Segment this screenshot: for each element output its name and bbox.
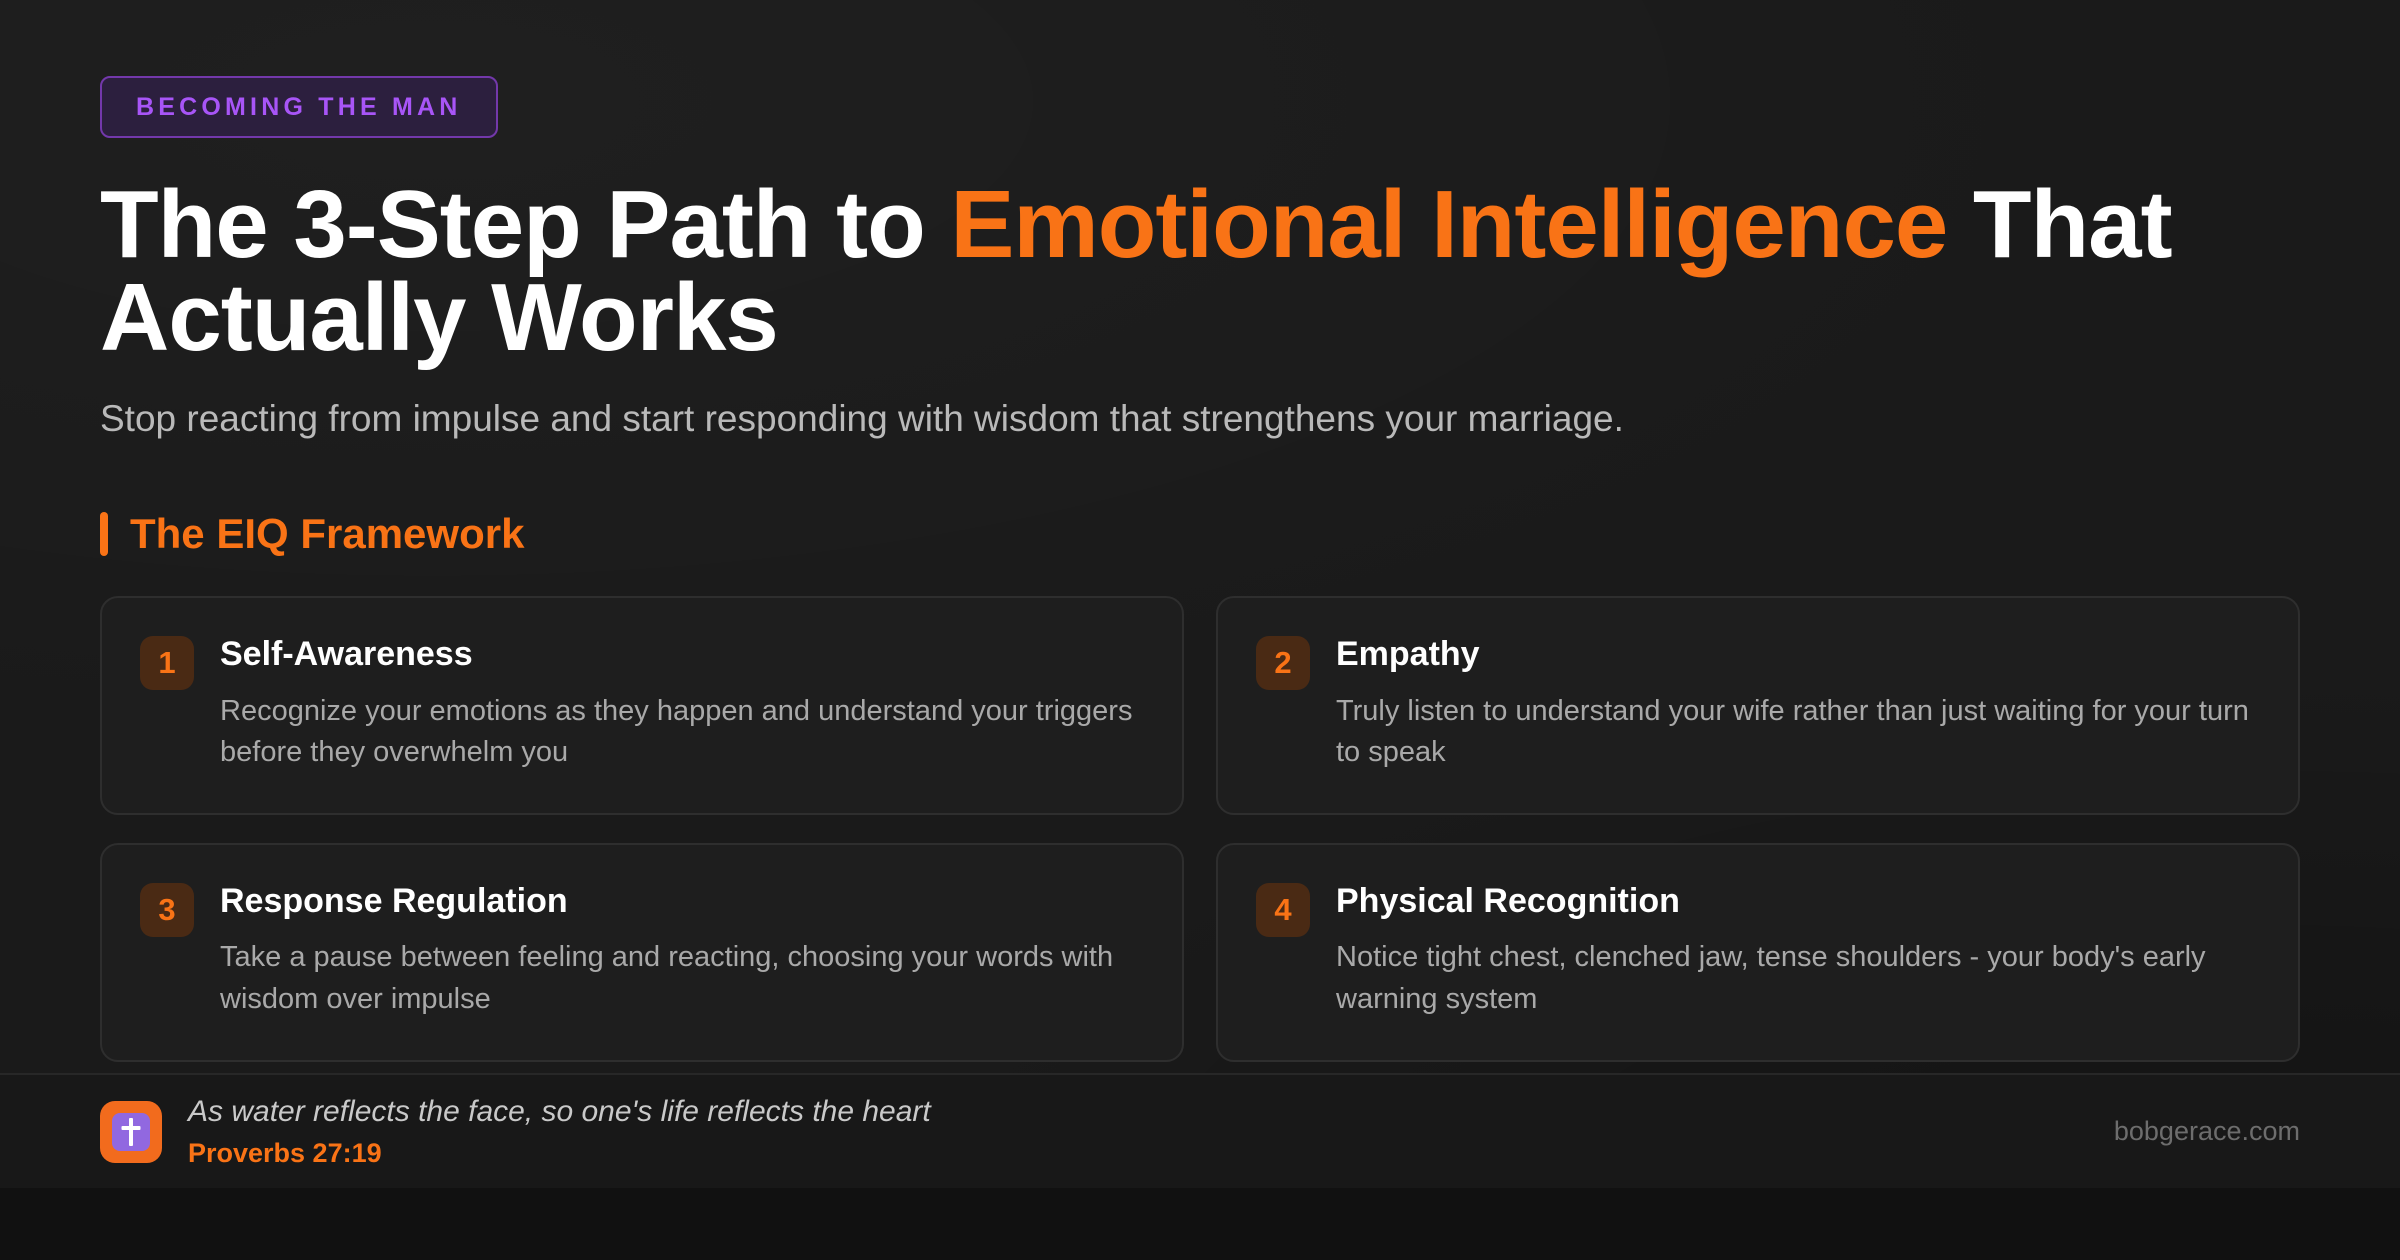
scripture-reference: Proverbs 27:19: [188, 1139, 931, 1169]
framework-card[interactable]: 4 Physical Recognition Notice tight ches…: [1216, 843, 2300, 1062]
card-head: 1 Self-Awareness Recognize your emotions…: [140, 634, 1142, 773]
card-description: Notice tight chest, clenched jaw, tense …: [1336, 937, 2256, 1019]
eyebrow-badge: BECOMING THE MAN: [100, 76, 498, 138]
card-body: Empathy Truly listen to understand your …: [1336, 634, 2256, 773]
cross-glyph: [112, 1113, 150, 1151]
section-heading: The EIQ Framework: [100, 510, 2300, 558]
section-accent-bar: [100, 512, 108, 556]
card-body: Physical Recognition Notice tight chest,…: [1336, 881, 2256, 1020]
card-head: 4 Physical Recognition Notice tight ches…: [1256, 881, 2258, 1020]
scripture-verse: As water reflects the face, so one's lif…: [188, 1094, 931, 1130]
card-number-badge: 1: [140, 636, 194, 690]
card-number-badge: 3: [140, 883, 194, 937]
card-title: Physical Recognition: [1336, 883, 2256, 920]
card-description: Truly listen to understand your wife rat…: [1336, 691, 2256, 773]
card-number-badge: 4: [1256, 883, 1310, 937]
card-description: Recognize your emotions as they happen a…: [220, 691, 1140, 773]
bottom-strip: [0, 1188, 2400, 1260]
slide-content: BECOMING THE MAN The 3-Step Path to Emot…: [0, 0, 2400, 1062]
section-heading-label: The EIQ Framework: [130, 510, 524, 558]
framework-card[interactable]: 2 Empathy Truly listen to understand you…: [1216, 596, 2300, 815]
card-head: 2 Empathy Truly listen to understand you…: [1256, 634, 2258, 773]
slide-root: BECOMING THE MAN The 3-Step Path to Emot…: [0, 0, 2400, 1260]
card-title: Self-Awareness: [220, 636, 1140, 673]
page-title: The 3-Step Path to Emotional Intelligenc…: [100, 178, 2220, 364]
framework-card-grid: 1 Self-Awareness Recognize your emotions…: [100, 596, 2300, 1061]
card-head: 3 Response Regulation Take a pause betwe…: [140, 881, 1142, 1020]
footer-bar: As water reflects the face, so one's lif…: [0, 1073, 2400, 1188]
framework-card[interactable]: 1 Self-Awareness Recognize your emotions…: [100, 596, 1184, 815]
cross-icon: [100, 1101, 162, 1163]
card-number-badge: 2: [1256, 636, 1310, 690]
page-title-part-1: The 3-Step Path to: [100, 171, 950, 278]
website-label: bobgerace.com: [2114, 1116, 2300, 1147]
card-title: Empathy: [1336, 636, 2256, 673]
page-title-highlight: Emotional Intelligence: [950, 171, 1947, 278]
footer-scripture: As water reflects the face, so one's lif…: [100, 1094, 931, 1169]
page-subtitle: Stop reacting from impulse and start res…: [100, 398, 2300, 440]
scripture-text-group: As water reflects the face, so one's lif…: [188, 1094, 931, 1169]
card-body: Response Regulation Take a pause between…: [220, 881, 1140, 1020]
framework-card[interactable]: 3 Response Regulation Take a pause betwe…: [100, 843, 1184, 1062]
card-title: Response Regulation: [220, 883, 1140, 920]
card-body: Self-Awareness Recognize your emotions a…: [220, 634, 1140, 773]
card-description: Take a pause between feeling and reactin…: [220, 937, 1140, 1019]
